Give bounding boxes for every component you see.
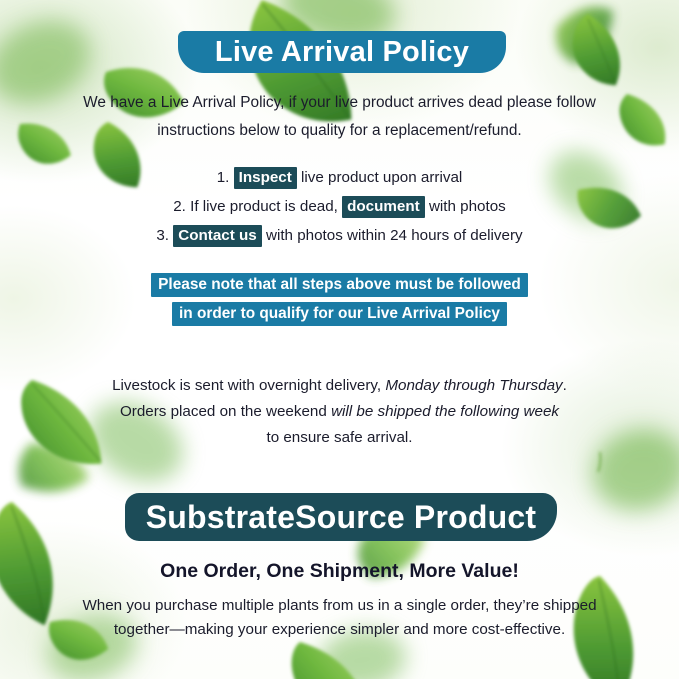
policy-note-line-1-wrap: Please note that all steps above must be…	[0, 276, 679, 294]
shipping-line-2-italic: will be shipped the following week	[331, 403, 559, 420]
policy-step-3-highlight: Contact us	[173, 225, 261, 247]
shipping-line-2-a: Orders placed on the weekend	[120, 403, 327, 420]
shipping-line-1-italic: Monday through Thursday	[385, 377, 562, 394]
intro-line-2: instructions below to quality for a repl…	[0, 122, 679, 140]
shipping-line-1-b: .	[563, 377, 567, 394]
policy-step-1-highlight: Inspect	[234, 167, 297, 189]
policy-step-2-prefix: If live product is dead,	[190, 198, 338, 215]
product-body-line-2: together—making your experience simpler …	[0, 621, 679, 638]
policy-step-3-number: 3.	[156, 227, 169, 244]
policy-step-1-number: 1.	[217, 169, 230, 186]
policy-note-line-1: Please note that all steps above must be…	[151, 273, 528, 297]
policy-step-2-text: with photos	[429, 198, 506, 215]
live-arrival-policy-banner-title: Live Arrival Policy	[215, 36, 469, 69]
policy-step-2: 2. If live product is dead, document wit…	[0, 198, 679, 215]
live-arrival-policy-banner: Live Arrival Policy	[178, 31, 506, 73]
shipping-line-3: to ensure safe arrival.	[0, 429, 679, 446]
policy-step-2-highlight: document	[342, 196, 425, 218]
policy-note-line-2-wrap: in order to qualify for our Live Arrival…	[0, 305, 679, 323]
policy-note-line-2: in order to qualify for our Live Arrival…	[172, 302, 507, 326]
product-subheading: One Order, One Shipment, More Value!	[0, 560, 679, 582]
intro-emphasis: We have a Live Arrival Policy	[83, 94, 280, 111]
intro-line-1: We have a Live Arrival Policy, if your l…	[0, 94, 679, 112]
shipping-line-1-a: Livestock is sent with overnight deliver…	[112, 377, 381, 394]
live-arrival-policy-infographic: Live Arrival Policy We have a Live Arriv…	[0, 0, 679, 679]
policy-step-1: 1. Inspect live product upon arrival	[0, 169, 679, 186]
policy-step-2-number: 2.	[173, 198, 186, 215]
substratesource-product-banner: SubstrateSource Product	[125, 493, 557, 541]
intro-rest: , if your live product arrives dead plea…	[280, 94, 596, 111]
policy-step-3: 3. Contact us with photos within 24 hour…	[0, 227, 679, 244]
policy-step-3-text: with photos within 24 hours of delivery	[266, 227, 523, 244]
shipping-line-1: Livestock is sent with overnight deliver…	[0, 377, 679, 394]
shipping-line-2: Orders placed on the weekend will be shi…	[0, 403, 679, 420]
policy-step-1-text: live product upon arrival	[301, 169, 462, 186]
substratesource-product-banner-title: SubstrateSource Product	[146, 499, 536, 536]
product-body-line-1: When you purchase multiple plants from u…	[0, 597, 679, 614]
